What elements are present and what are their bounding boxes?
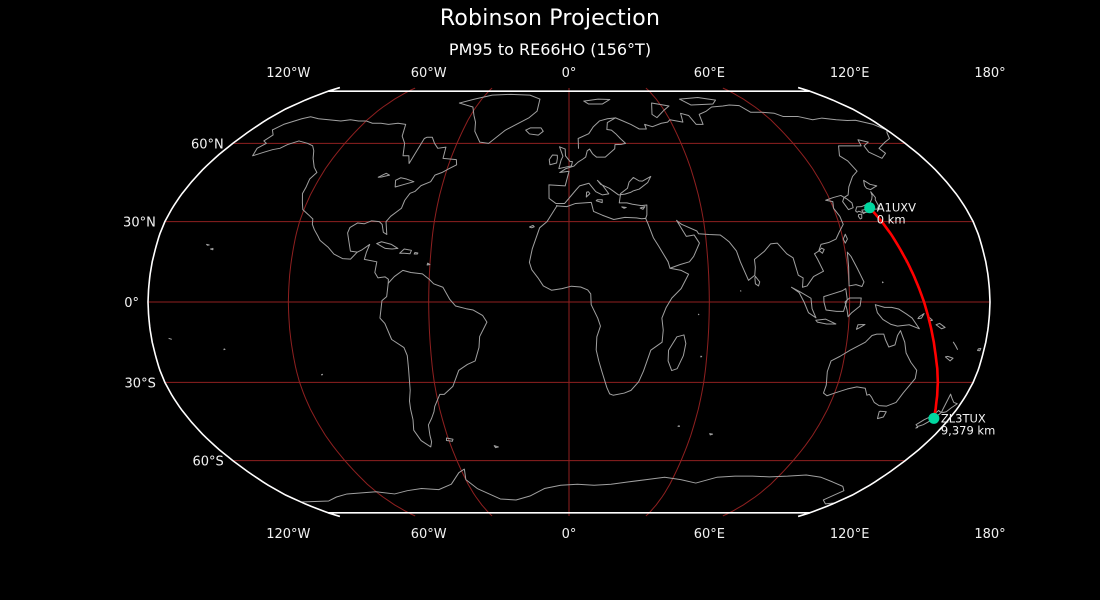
lon-label-top: 120°E — [830, 66, 870, 81]
coastline-segment — [559, 147, 573, 169]
coastline-segment — [556, 206, 557, 207]
coastline-segment — [224, 349, 225, 350]
coastline-segment — [816, 319, 836, 324]
coastline-segment — [207, 244, 210, 245]
coastline-segment — [211, 248, 213, 249]
lon-label-top: 60°W — [411, 66, 447, 81]
lon-label-top: 60°E — [694, 66, 725, 81]
graticule-group — [148, 88, 990, 516]
map-figure: Robinson Projection PM95 to RE66HO (156°… — [0, 0, 1100, 600]
coastline-segment — [875, 305, 919, 329]
coastline-segment — [710, 434, 713, 435]
coastline-segment — [526, 128, 544, 135]
coastline-segment — [678, 426, 679, 427]
coastline-segment — [549, 105, 887, 186]
coastline-segment — [301, 469, 844, 504]
coastline-segment — [847, 252, 864, 286]
coastline-segment — [414, 252, 418, 254]
lon-label-top: 0° — [562, 66, 577, 81]
coastline-segment — [679, 98, 715, 106]
coastline-segment — [701, 356, 702, 357]
coastline-group — [169, 94, 981, 504]
endpoint-marker-A1UXV[interactable] — [864, 202, 875, 213]
coastline-segment — [494, 446, 498, 448]
coastline-segment — [882, 282, 883, 283]
coastline-segment — [845, 298, 861, 317]
coastline-segment — [945, 356, 953, 361]
lat-label: 30°N — [123, 216, 156, 231]
lon-label-top: 120°W — [266, 66, 310, 81]
coastline-segment — [823, 331, 916, 407]
coastline-segment — [755, 276, 760, 286]
coastline-segment — [953, 342, 957, 349]
coastline-segment — [596, 200, 602, 203]
coastline-segment — [586, 192, 590, 197]
coastline-segment — [622, 207, 626, 208]
endpoint-marker-ZL3TUX[interactable] — [928, 413, 939, 424]
lon-label-bottom: 180° — [974, 527, 1005, 542]
endpoint-distance-ZL3TUX: 9,379 km — [941, 423, 995, 437]
lat-label: 30°S — [125, 376, 156, 391]
lon-label-bottom: 120°W — [266, 527, 310, 542]
lat-label: 0° — [124, 296, 139, 311]
coastline-segment — [549, 155, 557, 165]
coastline-segment — [978, 348, 981, 350]
coastline-segment — [395, 178, 414, 187]
coastline-segment — [858, 214, 861, 219]
robinson-map: A1UXV0 kmZL3TUX9,379 km 0°0°60°E60°E120°… — [0, 0, 1100, 600]
coastline-segment — [640, 207, 645, 210]
coastline-segment — [916, 427, 918, 428]
lon-label-top: 180° — [974, 66, 1005, 81]
lon-label-bottom: 0° — [562, 527, 577, 542]
coastline-segment — [824, 289, 847, 312]
coastline-segment — [446, 438, 453, 441]
coastline-segment — [584, 99, 610, 104]
lon-label-bottom: 120°E — [830, 527, 870, 542]
coastline-segment — [169, 338, 171, 339]
lat-label: 60°S — [192, 455, 223, 470]
coastline-segment — [529, 202, 688, 395]
coastline-segment — [792, 287, 816, 318]
lon-label-bottom: 60°W — [411, 527, 447, 542]
coastline-segment — [843, 234, 847, 243]
lon-label-bottom: 60°E — [694, 527, 725, 542]
coastline-segment — [400, 249, 412, 254]
coastline-segment — [380, 270, 487, 447]
lat-label: 60°N — [191, 137, 224, 152]
coastline-segment — [856, 325, 865, 330]
coastline-segment — [864, 180, 877, 189]
coastline-segment — [918, 314, 924, 319]
coastline-segment — [253, 130, 358, 259]
coastline-segment — [877, 411, 886, 418]
coastline-segment — [549, 176, 651, 218]
endpoint-distance-A1UXV: 0 km — [877, 213, 906, 227]
coastline-segment — [378, 173, 389, 177]
coastline-segment — [668, 335, 686, 371]
coastline-segment — [529, 225, 534, 227]
path-segment — [870, 208, 938, 419]
coastline-segment — [377, 242, 398, 249]
axis-labels: 0°0°60°E60°E120°E120°E180°180°120°W120°W… — [123, 66, 1006, 542]
coastline-segment — [459, 94, 540, 143]
great-circle-path — [870, 208, 938, 419]
coastline-segment — [936, 323, 945, 328]
